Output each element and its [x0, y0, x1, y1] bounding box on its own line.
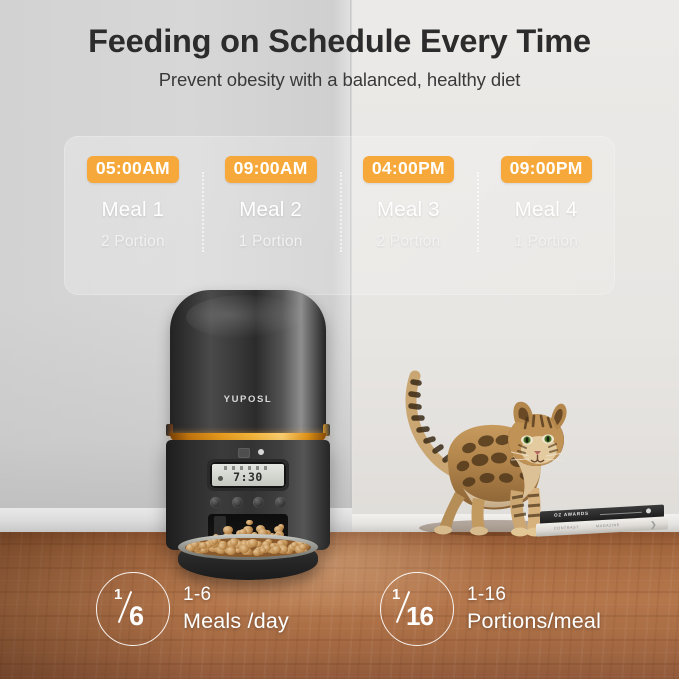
meal-portion-label: 2 Portion	[376, 233, 440, 251]
fraction-numerator: 1	[392, 586, 400, 603]
meal-time-badge: 04:00PM	[363, 156, 454, 183]
magazine-bottom-label-right: MAGAZINE	[596, 523, 620, 528]
page-subtitle: Prevent obesity with a balanced, healthy…	[0, 69, 679, 91]
meal-column-3[interactable]: 04:00PM Meal 3 2 Portion	[340, 136, 478, 267]
feature-portions-per-meal: 1 16 1-16 Portions/meal	[380, 572, 601, 646]
fraction-numerator: 1	[114, 586, 122, 603]
chevron-right-icon: ❯	[650, 520, 657, 529]
magazine-top-dot-icon	[646, 509, 651, 514]
status-led-icon	[258, 449, 264, 455]
meal-time-badge: 09:00AM	[225, 156, 317, 183]
fraction-one-sixteenth: 1 16	[391, 586, 443, 632]
plus-button[interactable]	[253, 497, 264, 508]
feature-meals-per-day: 1 6 1-6 Meals /day	[96, 572, 289, 646]
feeding-schedule-panel: 05:00AM Meal 1 2 Portion 09:00AM Meal 2 …	[64, 136, 615, 295]
meal-time-badge: 09:00PM	[501, 156, 592, 183]
meal-time-badge: 05:00AM	[87, 156, 179, 183]
kibble-piece	[191, 541, 199, 548]
meal-column-4[interactable]: 09:00PM Meal 4 1 Portion	[477, 136, 615, 267]
meal-column-2[interactable]: 09:00AM Meal 2 1 Portion	[202, 136, 340, 267]
kibble-in-bowl	[185, 538, 311, 557]
schedule-row: 05:00AM Meal 1 2 Portion 09:00AM Meal 2 …	[64, 136, 615, 267]
feeder-lcd-screen: 7:30	[210, 462, 286, 488]
fraction-denominator: 16	[406, 601, 433, 632]
hopper-highlight	[186, 295, 306, 339]
fraction-denominator: 6	[129, 601, 143, 632]
kibble-piece	[272, 546, 280, 553]
feature-range: 1-6	[183, 583, 289, 606]
kibble-piece	[230, 539, 238, 546]
meal-column-1[interactable]: 05:00AM Meal 1 2 Portion	[64, 136, 202, 267]
brand-logo: YUPOSL	[166, 394, 330, 405]
kibble-piece	[280, 546, 288, 553]
feeder-hopper	[170, 290, 326, 438]
page-title: Feeding on Schedule Every Time	[0, 22, 679, 60]
magazine-top-label: OZ AWARDS	[554, 511, 589, 518]
magazine-top-rule	[600, 511, 642, 515]
meal-portion-label: 2 Portion	[101, 233, 165, 251]
feature-label: Meals /day	[183, 608, 289, 634]
feature-text-block: 1-16 Portions/meal	[467, 583, 601, 634]
meal-portion-label: 1 Portion	[239, 233, 303, 251]
fraction-one-sixth: 1 6	[107, 586, 159, 632]
kibble-piece	[211, 538, 218, 544]
kibble-piece	[248, 539, 257, 547]
kibble-piece	[226, 547, 236, 555]
set-button[interactable]	[275, 497, 286, 508]
meal-name-label: Meal 4	[515, 198, 578, 222]
fraction-circle-badge: 1 6	[96, 572, 170, 646]
meal-name-label: Meal 1	[102, 198, 165, 222]
kibble-piece	[223, 526, 233, 534]
meal-name-label: Meal 3	[377, 198, 440, 222]
header-block: Feeding on Schedule Every Time Prevent o…	[0, 22, 679, 91]
fraction-circle-badge: 1 16	[380, 572, 454, 646]
feature-label: Portions/meal	[467, 608, 601, 634]
feeder-button-row[interactable]	[210, 496, 286, 508]
kibble-piece	[246, 520, 253, 526]
camera-icon	[238, 448, 250, 458]
feature-text-block: 1-6 Meals /day	[183, 583, 289, 634]
meal-name-label: Meal 2	[239, 198, 302, 222]
product-marketing-image: Feeding on Schedule Every Time Prevent o…	[0, 0, 679, 679]
feature-range: 1-16	[467, 583, 601, 606]
meal-portion-label: 1 Portion	[514, 233, 578, 251]
minus-button[interactable]	[232, 497, 243, 508]
power-button[interactable]	[210, 497, 221, 508]
magazine-stack: OZ AWARDS CONTRAST MAGAZINE ❯	[536, 508, 666, 542]
automatic-pet-feeder: YUPOSL 7:30	[166, 290, 330, 580]
magazine-bottom-label-left: CONTRAST	[554, 525, 579, 530]
lcd-time-value: 7:30	[210, 470, 286, 484]
kibble-piece	[199, 542, 207, 549]
